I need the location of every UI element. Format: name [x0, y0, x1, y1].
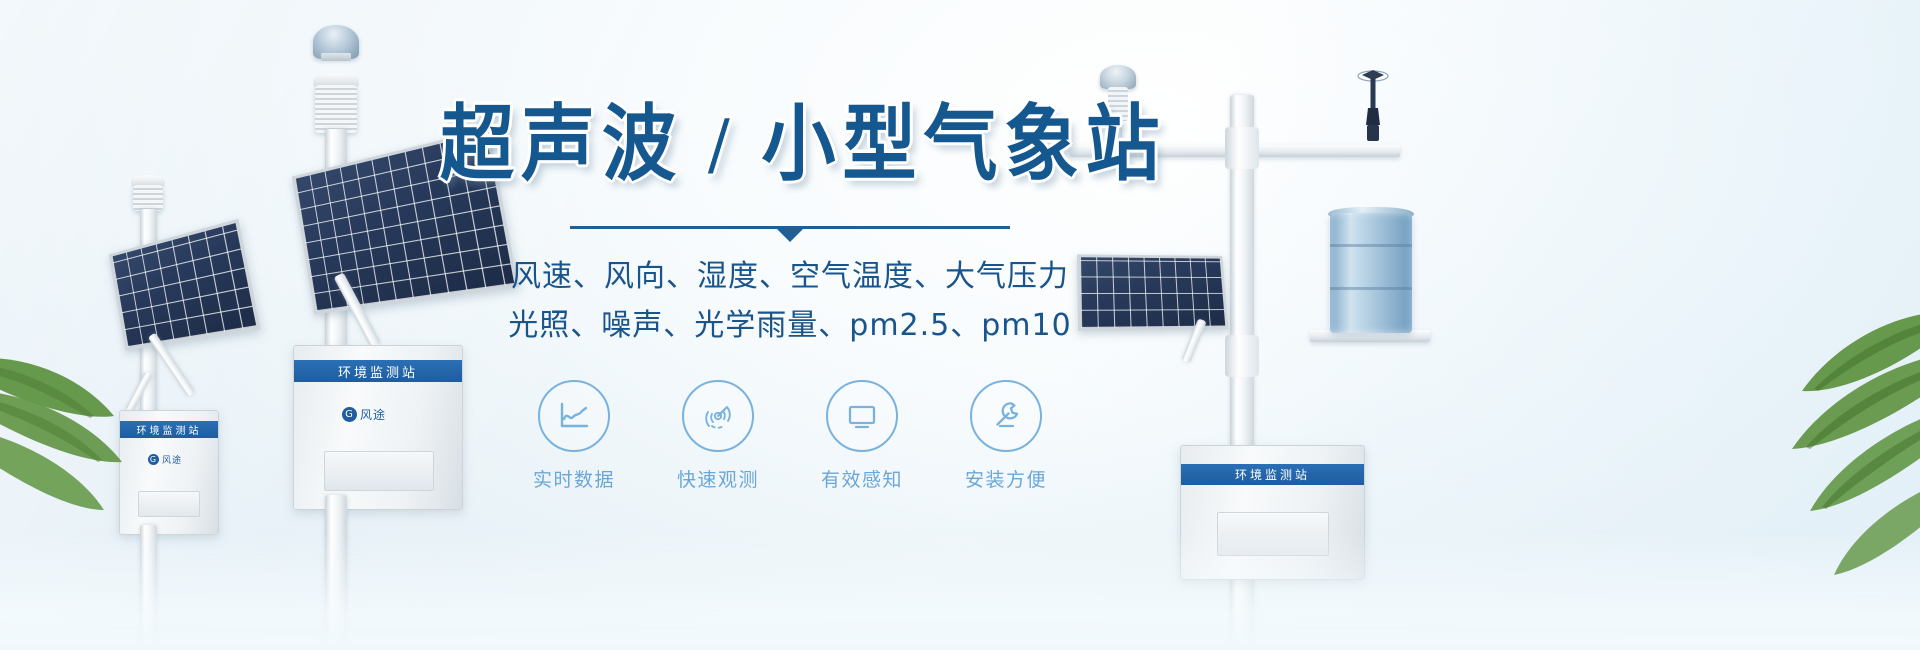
ultrasonic-sensor-head-right [1100, 65, 1136, 89]
feature-ring-2 [682, 380, 754, 452]
page-title: 超声波 / 小型气象站 [440, 104, 1140, 187]
feature-label-1: 实时数据 [533, 465, 615, 492]
feature-item-fast-observation[interactable]: 快速观测 [667, 380, 769, 492]
rain-gauge [1330, 213, 1412, 333]
banner-content: 超声波 / 小型气象站 风速、风向、湿度、空气温度、大气压力 光照、噪声、光学雨… [440, 104, 1140, 492]
sensor-collar [321, 53, 351, 61]
cabinet-label-strip-left: 环境监测站 [120, 421, 218, 438]
subtitle-line-2: 光照、噪声、光学雨量、pm2.5、pm10 [440, 302, 1140, 351]
feature-label-2: 快速观测 [677, 465, 759, 492]
wind-vane-svg [1356, 63, 1390, 147]
cabinet-label-right: 环境监测站 [1235, 466, 1310, 483]
cabinet-vent-middle [324, 451, 434, 491]
feature-list: 实时数据 [440, 380, 1140, 492]
subtitle-block: 风速、风向、湿度、空气温度、大气压力 光照、噪声、光学雨量、pm2.5、pm10 [440, 253, 1140, 350]
wrench-icon [987, 397, 1025, 435]
leaf-decoration-right [1710, 295, 1920, 650]
brand-text-middle: 风途 [360, 406, 386, 423]
monitor-icon [843, 397, 881, 435]
cabinet-label-strip-right: 环境监测站 [1181, 464, 1364, 485]
brand-mark-icon-middle: G [342, 407, 357, 422]
radiation-shield-left [133, 185, 163, 211]
brand-logo-left: G 风途 [148, 453, 182, 466]
cabinet-vent-left [138, 491, 200, 517]
subtitle-line-1: 风速、风向、湿度、空气温度、大气压力 [440, 253, 1140, 302]
feature-label-4: 安装方便 [965, 465, 1047, 492]
base-pole-middle [325, 495, 347, 650]
feature-label-3: 有效感知 [821, 465, 903, 492]
feature-ring-4 [970, 380, 1042, 452]
wind-vane-icon [1356, 63, 1390, 147]
cabinet-label-strip-middle: 环境监测站 [294, 360, 462, 382]
solar-panel-left [109, 219, 261, 351]
equipment-cabinet-left: 环境监测站 G 风途 [119, 410, 219, 535]
feature-ring-1 [538, 380, 610, 452]
radar-scan-icon [699, 397, 737, 435]
brand-logo-middle: G 风途 [342, 406, 386, 423]
feature-ring-3 [826, 380, 898, 452]
equipment-cabinet-right: 环境监测站 [1180, 445, 1365, 580]
equipment-cabinet-middle: 环境监测站 G 风途 [293, 345, 463, 510]
brand-mark-icon-left: G [148, 454, 159, 465]
mast-collar-mid-right [1225, 335, 1259, 377]
product-banner: 环境监测站 G 风途 环境监测站 [0, 0, 1920, 650]
cabinet-label-middle: 环境监测站 [338, 362, 418, 381]
title-divider [570, 226, 1010, 229]
feature-item-easy-install[interactable]: 安装方便 [955, 380, 1057, 492]
base-pole-left [140, 525, 157, 650]
mast-collar-top-right [1225, 127, 1259, 169]
cabinet-vent-right [1217, 512, 1329, 556]
cabinet-label-left: 环境监测站 [137, 422, 202, 437]
weather-station-left: 环境监测站 G 风途 [95, 175, 275, 650]
chevron-down-icon [777, 229, 803, 242]
line-chart-icon [555, 397, 593, 435]
feature-item-realtime-data[interactable]: 实时数据 [523, 380, 625, 492]
radiation-shield-middle [315, 85, 357, 133]
feature-item-effective-sensing[interactable]: 有效感知 [811, 380, 913, 492]
brand-text-left: 风途 [162, 453, 182, 466]
